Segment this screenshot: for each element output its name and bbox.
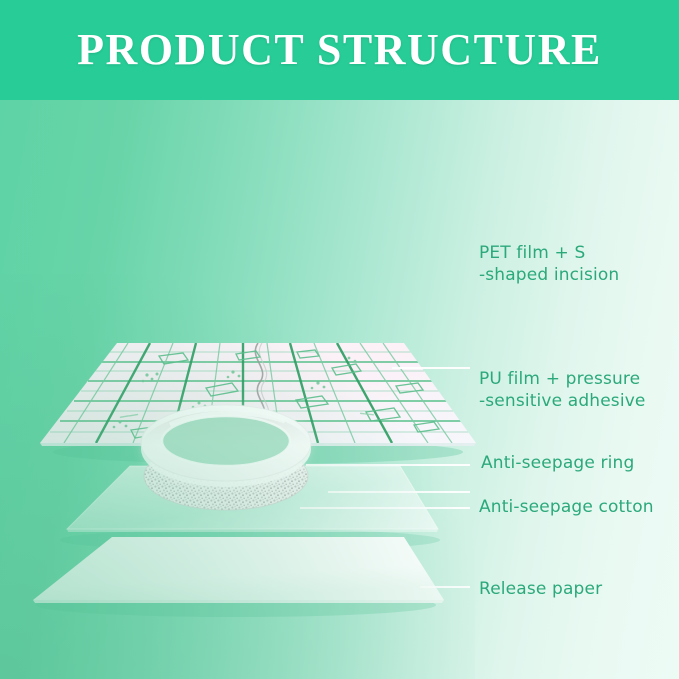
layer-labels: PET film + S -shaped incision PU film + … [0,100,679,679]
label-anti-seepage-cotton: Anti-seepage cotton [479,496,654,518]
page-title: PRODUCT STRUCTURE [77,28,602,72]
label-pu-film: PU film + pressure -sensitive adhesive [479,368,646,413]
header-banner: PRODUCT STRUCTURE [0,0,679,100]
product-structure-infographic: PRODUCT STRUCTURE [0,0,679,679]
label-anti-seepage-ring: Anti-seepage ring [481,452,634,474]
label-release-paper: Release paper [479,578,602,600]
label-pet-film: PET film + S -shaped incision [479,242,619,287]
